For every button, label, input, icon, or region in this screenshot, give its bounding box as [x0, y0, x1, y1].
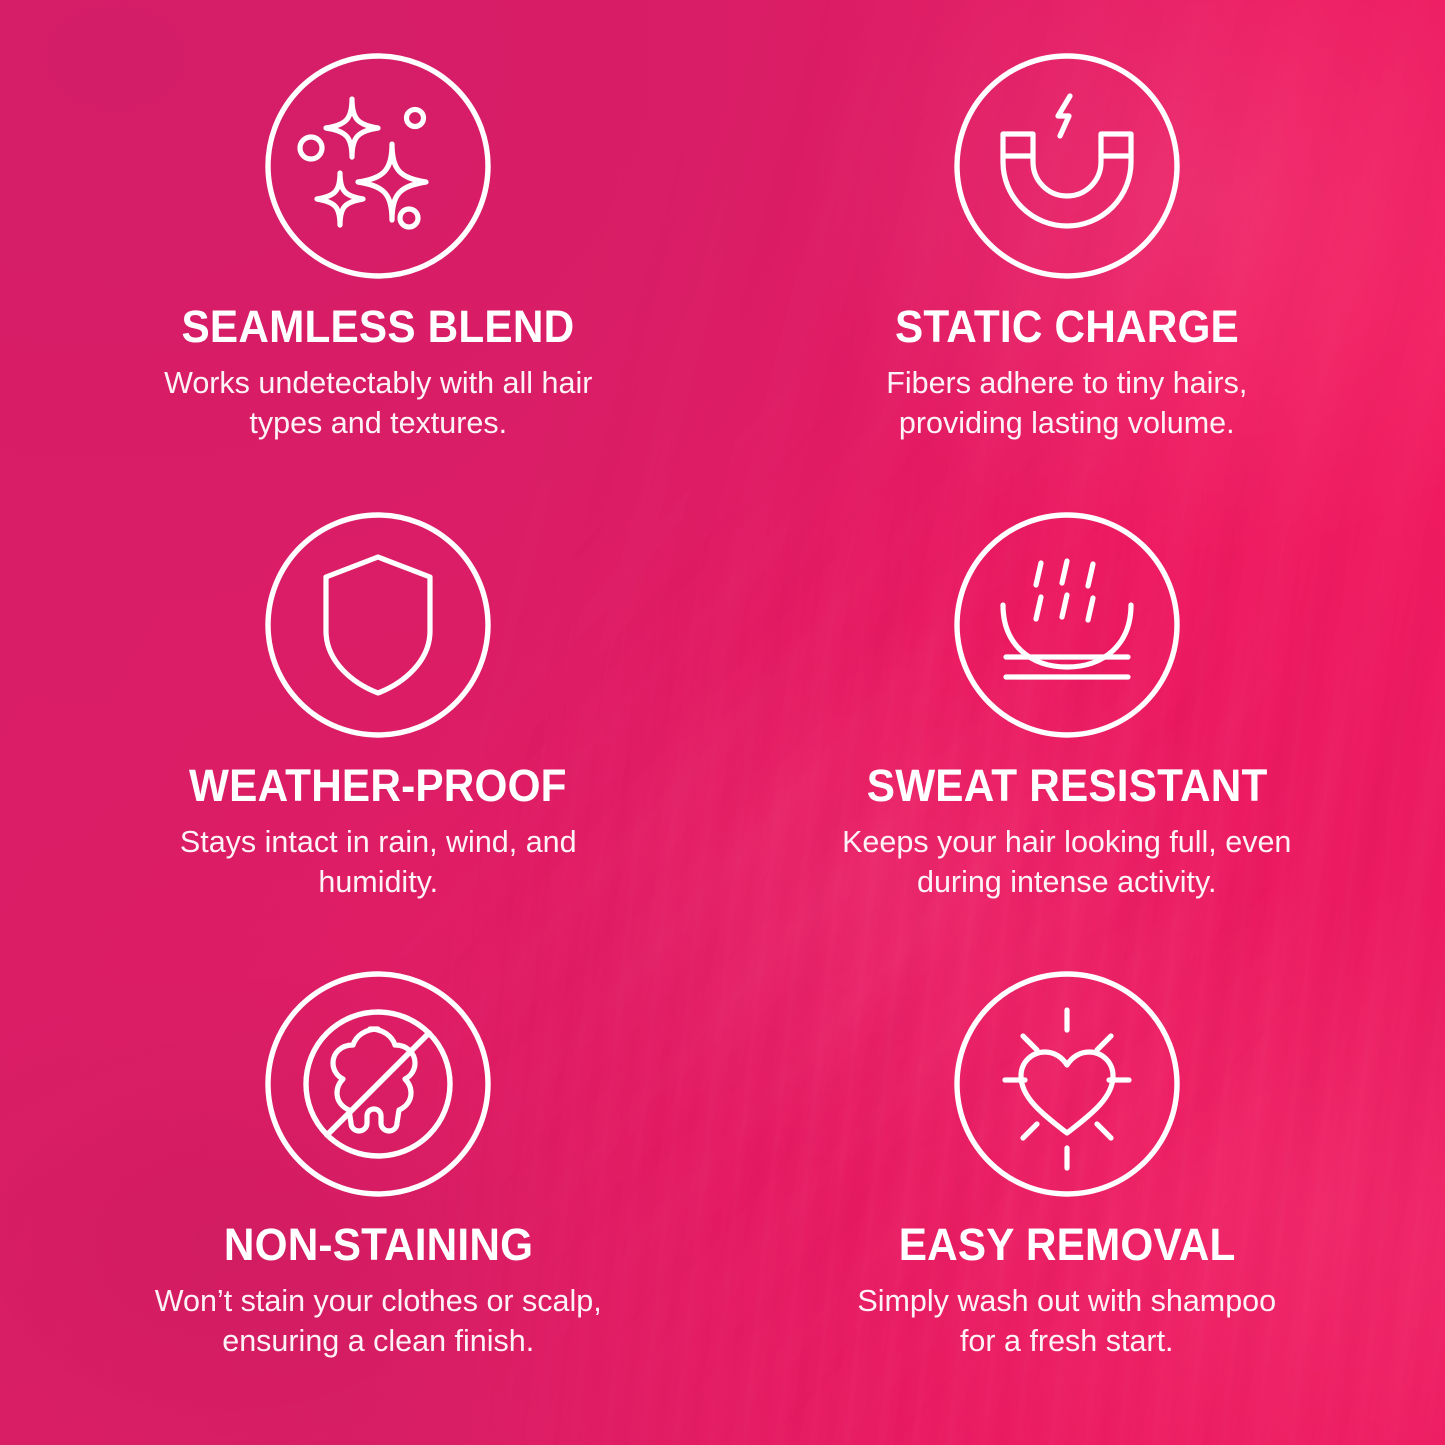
feature-card-weather-proof: WEATHER-PROOF Stays intact in rain, wind… [34, 501, 723, 956]
feature-title: STATIC CHARGE [895, 304, 1239, 350]
feature-description: Simply wash out with shampoo for a fresh… [837, 1282, 1297, 1361]
feature-title: WEATHER-PROOF [189, 763, 567, 809]
feature-description: Works undetectably with all hair types a… [148, 364, 608, 443]
feature-card-static-charge: STATIC CHARGE Fibers adhere to tiny hair… [723, 46, 1412, 501]
sparkles-icon [264, 52, 492, 280]
radiant-heart-icon [953, 970, 1181, 1198]
feature-card-non-staining: NON-STAINING Won’t stain your clothes or… [34, 956, 723, 1411]
magnet-static-icon [953, 52, 1181, 280]
feature-infographic: SEAMLESS BLEND Works undetectably with a… [0, 0, 1445, 1445]
feature-card-easy-removal: EASY REMOVAL Simply wash out with shampo… [723, 956, 1412, 1411]
feature-card-seamless-blend: SEAMLESS BLEND Works undetectably with a… [34, 46, 723, 501]
feature-description: Stays intact in rain, wind, and humidity… [148, 823, 608, 902]
feature-description: Fibers adhere to tiny hairs, providing l… [837, 364, 1297, 443]
no-stain-icon [264, 970, 492, 1198]
feature-title: EASY REMOVAL [898, 1222, 1235, 1268]
feature-title: SEAMLESS BLEND [182, 304, 575, 350]
features-grid: SEAMLESS BLEND Works undetectably with a… [0, 0, 1445, 1445]
feature-title: NON-STAINING [224, 1222, 533, 1268]
feature-title: SWEAT RESISTANT [866, 763, 1267, 809]
feature-description: Keeps your hair looking full, even durin… [837, 823, 1297, 902]
shield-icon [264, 511, 492, 739]
water-repel-icon [953, 511, 1181, 739]
feature-description: Won’t stain your clothes or scalp, ensur… [148, 1282, 608, 1361]
feature-card-sweat-resistant: SWEAT RESISTANT Keeps your hair looking … [723, 501, 1412, 956]
